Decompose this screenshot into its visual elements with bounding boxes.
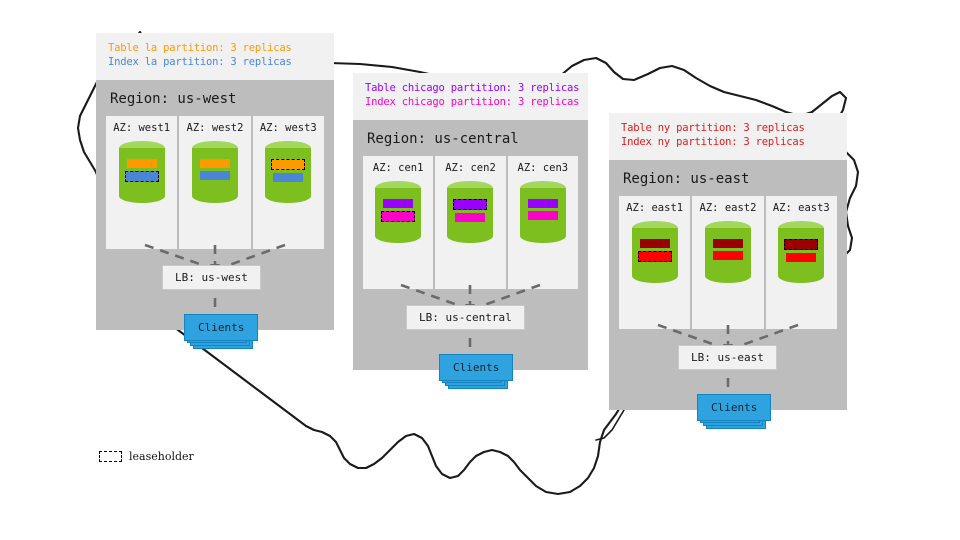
load-balancer-us-west[interactable]: LB: us-west xyxy=(162,265,261,290)
az-row-us-west: AZ: west1 AZ: west2 xyxy=(106,116,324,249)
replica-bars xyxy=(705,239,751,260)
region-banner-us-east: Table ny partition: 3 replicas Index ny … xyxy=(609,113,847,160)
region-title-us-west: Region: us-west xyxy=(96,80,334,116)
replica-bars xyxy=(632,239,678,262)
az-cen1[interactable]: AZ: cen1 xyxy=(363,156,435,289)
az-west2[interactable]: AZ: west2 xyxy=(179,116,252,249)
banner-line-index: Index ny partition: 3 replicas xyxy=(621,135,835,149)
database-cylinder-east1[interactable] xyxy=(632,221,678,283)
az-label: AZ: cen3 xyxy=(518,156,569,181)
database-cylinder-cen3[interactable] xyxy=(520,181,566,243)
region-banner-us-central: Table chicago partition: 3 replicas Inde… xyxy=(353,73,588,120)
clients-label[interactable]: Clients xyxy=(697,394,771,421)
clients-us-east[interactable]: Clients xyxy=(697,394,771,421)
replica-table-ny xyxy=(640,239,670,248)
leaseholder-swatch-icon xyxy=(99,451,122,462)
replica-bars xyxy=(119,159,165,182)
us-map-gulf-detail xyxy=(596,410,624,440)
replica-bars xyxy=(520,199,566,220)
cylinder-bottom xyxy=(632,269,678,283)
replica-bars xyxy=(375,199,421,222)
az-east2[interactable]: AZ: east2 xyxy=(692,196,765,329)
region-panel-us-east: Table ny partition: 3 replicas Index ny … xyxy=(609,113,847,410)
cylinder-bottom xyxy=(192,189,238,203)
replica-table-la xyxy=(200,159,230,168)
clients-us-central[interactable]: Clients xyxy=(439,354,513,381)
database-cylinder-west2[interactable] xyxy=(192,141,238,203)
az-cen2[interactable]: AZ: cen2 xyxy=(435,156,507,289)
az-label: AZ: east2 xyxy=(700,196,757,221)
replica-bars xyxy=(192,159,238,180)
region-panel-us-west: Table la partition: 3 replicas Index la … xyxy=(96,33,334,330)
replica-bars xyxy=(265,159,311,182)
region-title-us-central: Region: us-central xyxy=(353,120,588,156)
cylinder-bottom xyxy=(119,189,165,203)
cylinder-bottom xyxy=(778,269,824,283)
replica-index-chicago xyxy=(528,211,558,220)
az-east3[interactable]: AZ: east3 xyxy=(766,196,837,329)
az-label: AZ: west3 xyxy=(260,116,317,141)
load-balancer-us-central[interactable]: LB: us-central xyxy=(406,305,525,330)
replica-index-ny-leaseholder xyxy=(638,251,672,262)
database-cylinder-west1[interactable] xyxy=(119,141,165,203)
replica-table-chicago xyxy=(528,199,558,208)
region-title-us-east: Region: us-east xyxy=(609,160,847,196)
az-cen3[interactable]: AZ: cen3 xyxy=(508,156,578,289)
banner-line-index: Index la partition: 3 replicas xyxy=(108,55,322,69)
az-label: AZ: west1 xyxy=(113,116,170,141)
az-label: AZ: cen2 xyxy=(445,156,496,181)
diagram-canvas: Table la partition: 3 replicas Index la … xyxy=(0,0,960,540)
database-cylinder-cen2[interactable] xyxy=(447,181,493,243)
cylinder-bottom xyxy=(447,229,493,243)
replica-index-ny xyxy=(786,253,816,262)
replica-table-chicago-leaseholder xyxy=(453,199,487,210)
replica-index-la-leaseholder xyxy=(125,171,159,182)
clients-label[interactable]: Clients xyxy=(184,314,258,341)
cylinder-bottom xyxy=(265,189,311,203)
legend-leaseholder: leaseholder xyxy=(99,450,194,463)
replica-bars xyxy=(447,199,493,222)
replica-table-ny-leaseholder xyxy=(784,239,818,250)
cylinder-bottom xyxy=(375,229,421,243)
database-cylinder-east2[interactable] xyxy=(705,221,751,283)
region-panel-us-central: Table chicago partition: 3 replicas Inde… xyxy=(353,73,588,370)
replica-table-chicago xyxy=(383,199,413,208)
az-row-us-east: AZ: east1 AZ: east2 xyxy=(619,196,837,329)
az-west1[interactable]: AZ: west1 xyxy=(106,116,179,249)
banner-line-table: Table ny partition: 3 replicas xyxy=(621,121,835,135)
az-west3[interactable]: AZ: west3 xyxy=(253,116,324,249)
banner-line-table: Table chicago partition: 3 replicas xyxy=(365,81,576,95)
az-label: AZ: west2 xyxy=(187,116,244,141)
az-label: AZ: cen1 xyxy=(373,156,424,181)
replica-index-la xyxy=(273,173,303,182)
cylinder-bottom xyxy=(705,269,751,283)
replica-table-la-leaseholder xyxy=(271,159,305,170)
replica-table-ny xyxy=(713,239,743,248)
clients-us-west[interactable]: Clients xyxy=(184,314,258,341)
az-east1[interactable]: AZ: east1 xyxy=(619,196,692,329)
legend-label: leaseholder xyxy=(129,450,194,463)
az-label: AZ: east3 xyxy=(773,196,830,221)
load-balancer-us-east[interactable]: LB: us-east xyxy=(678,345,777,370)
replica-index-chicago-leaseholder xyxy=(381,211,415,222)
replica-index-chicago xyxy=(455,213,485,222)
cylinder-bottom xyxy=(520,229,566,243)
replica-bars xyxy=(778,239,824,262)
database-cylinder-west3[interactable] xyxy=(265,141,311,203)
banner-line-index: Index chicago partition: 3 replicas xyxy=(365,95,576,109)
replica-index-ny xyxy=(713,251,743,260)
banner-line-table: Table la partition: 3 replicas xyxy=(108,41,322,55)
az-label: AZ: east1 xyxy=(626,196,683,221)
database-cylinder-cen1[interactable] xyxy=(375,181,421,243)
az-row-us-central: AZ: cen1 AZ: cen2 xyxy=(363,156,578,289)
replica-table-la xyxy=(127,159,157,168)
database-cylinder-east3[interactable] xyxy=(778,221,824,283)
replica-index-la xyxy=(200,171,230,180)
clients-label[interactable]: Clients xyxy=(439,354,513,381)
region-banner-us-west: Table la partition: 3 replicas Index la … xyxy=(96,33,334,80)
